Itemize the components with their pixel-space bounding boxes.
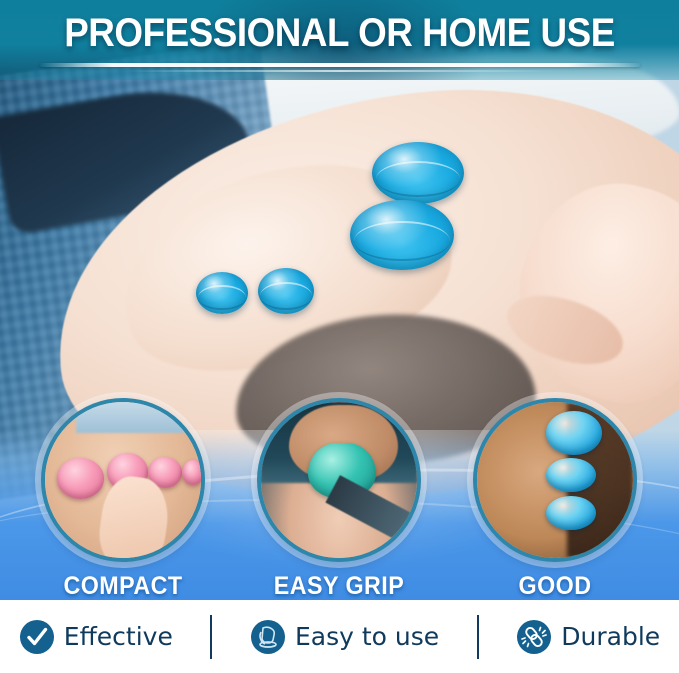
blue-cup-3 — [546, 496, 596, 530]
blue-cup-2 — [546, 458, 596, 492]
pink-cup-4 — [182, 460, 204, 485]
cup-rim — [354, 221, 450, 261]
pink-cup-1 — [57, 458, 104, 499]
blue-cup-1 — [546, 411, 602, 455]
cup-rim — [260, 282, 312, 310]
header-banner: PROFESSIONAL OR HOME USE — [0, 0, 679, 80]
benefit-label-effective: Effective — [64, 622, 173, 651]
cupping-cup-small-left — [196, 272, 248, 314]
feature-label-compact: COMPACT — [37, 572, 210, 601]
feature-photo-easy-grip — [257, 398, 421, 562]
benefit-divider-2 — [477, 615, 479, 659]
feature-label-easy-grip: EASY GRIP — [253, 572, 426, 601]
benefit-label-easy-to-use: Easy to use — [295, 622, 439, 651]
title-divider — [40, 63, 640, 67]
cup-rim — [376, 161, 461, 197]
easy-grip-photo — [261, 402, 417, 558]
benefits-bar: Effective Easy to use — [0, 600, 679, 673]
chain-link-icon — [516, 619, 552, 655]
feature-easy-grip: EASY GRIP — [246, 398, 432, 609]
benefit-effective: Effective — [19, 619, 173, 655]
cupping-cup-large-bottom — [350, 200, 454, 270]
compact-towel — [76, 398, 185, 433]
title-divider-secondary — [125, 70, 555, 72]
waistband-strap — [325, 475, 421, 548]
feature-photo-good-suction — [473, 398, 637, 562]
cup-rim — [198, 285, 246, 311]
check-circle-icon — [19, 619, 55, 655]
benefit-easy-to-use: Easy to use — [250, 619, 439, 655]
feature-compact: COMPACT — [30, 398, 216, 609]
page-title: PROFESSIONAL OR HOME USE — [27, 11, 652, 56]
cupping-cup-large-top — [372, 142, 464, 204]
compact-photo — [45, 402, 201, 558]
product-feature-image: COMPACT EASY GRIP GOOD SUCTION — [0, 0, 679, 673]
cupping-cup-small-right — [258, 268, 314, 314]
benefit-durable: Durable — [516, 619, 660, 655]
feature-photo-compact — [41, 398, 205, 562]
good-suction-photo — [477, 402, 633, 558]
benefit-divider-1 — [210, 615, 212, 659]
hand-holding-cup-icon — [250, 619, 286, 655]
benefit-label-durable: Durable — [561, 622, 660, 651]
